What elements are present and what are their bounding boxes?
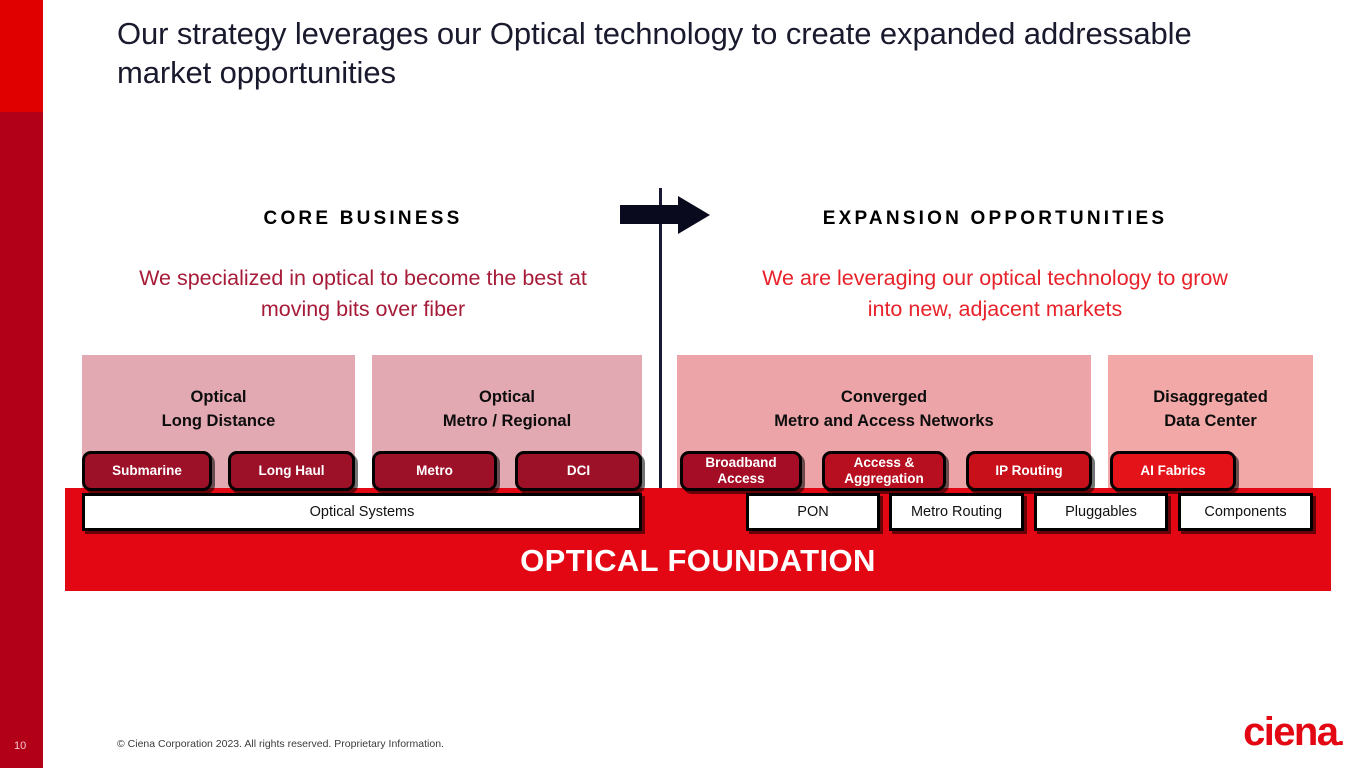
copyright-notice: © Ciena Corporation 2023. All rights res… <box>117 738 444 750</box>
ciena-logo-text: ciena <box>1243 710 1337 754</box>
expansion-opportunities-subtitle: We are leveraging our optical technology… <box>748 263 1242 325</box>
product-box-label: Components <box>1204 504 1286 520</box>
market-panel-title: DisaggregatedData Center <box>1108 385 1313 433</box>
product-box-label: Pluggables <box>1065 504 1137 520</box>
product-capsule: Access &Aggregation <box>822 451 946 491</box>
right-arrow-icon <box>620 196 710 234</box>
product-box: Metro Routing <box>889 493 1024 531</box>
product-capsule: BroadbandAccess <box>680 451 802 491</box>
arrow-head <box>678 196 710 234</box>
arrow-shaft <box>620 205 682 224</box>
optical-foundation-label: OPTICAL FOUNDATION <box>65 543 1331 579</box>
product-box: Optical Systems <box>82 493 642 531</box>
product-capsule: Metro <box>372 451 497 491</box>
expansion-opportunities-heading: EXPANSION OPPORTUNITIES <box>752 208 1238 230</box>
left-rail-bottom-accent <box>0 112 43 768</box>
product-capsule-label: BroadbandAccess <box>705 455 776 487</box>
product-capsule: IP Routing <box>966 451 1092 491</box>
market-panel-title: OpticalLong Distance <box>82 385 355 433</box>
product-capsule-label: Metro <box>416 463 453 479</box>
product-capsule-label: Submarine <box>112 463 182 479</box>
product-capsule-label: AI Fabrics <box>1140 463 1205 479</box>
ciena-logo: ciena. <box>1243 712 1343 756</box>
page-title: Our strategy leverages our Optical techn… <box>117 14 1227 92</box>
product-capsule-label: Long Haul <box>259 463 325 479</box>
slide-canvas: Our strategy leverages our Optical techn… <box>0 0 1365 768</box>
product-box-label: Optical Systems <box>310 504 415 520</box>
product-capsule-label: IP Routing <box>995 463 1062 479</box>
market-panel-title: OpticalMetro / Regional <box>372 385 642 433</box>
product-capsule-label: Access &Aggregation <box>844 455 924 487</box>
page-number: 10 <box>14 740 26 752</box>
product-capsule: Long Haul <box>228 451 355 491</box>
product-box: Components <box>1178 493 1313 531</box>
core-business-heading: CORE BUSINESS <box>132 208 594 230</box>
ciena-logo-dot: . <box>1337 721 1343 751</box>
market-panel-title: ConvergedMetro and Access Networks <box>677 385 1091 433</box>
core-business-subtitle: We specialized in optical to become the … <box>120 263 606 325</box>
product-capsule: AI Fabrics <box>1110 451 1236 491</box>
product-box: Pluggables <box>1034 493 1168 531</box>
product-capsule: Submarine <box>82 451 212 491</box>
product-capsule: DCI <box>515 451 642 491</box>
product-box-label: PON <box>797 504 828 520</box>
left-rail-top-accent <box>0 0 43 112</box>
product-box: PON <box>746 493 880 531</box>
product-capsule-label: DCI <box>567 463 590 479</box>
product-box-label: Metro Routing <box>911 504 1002 520</box>
